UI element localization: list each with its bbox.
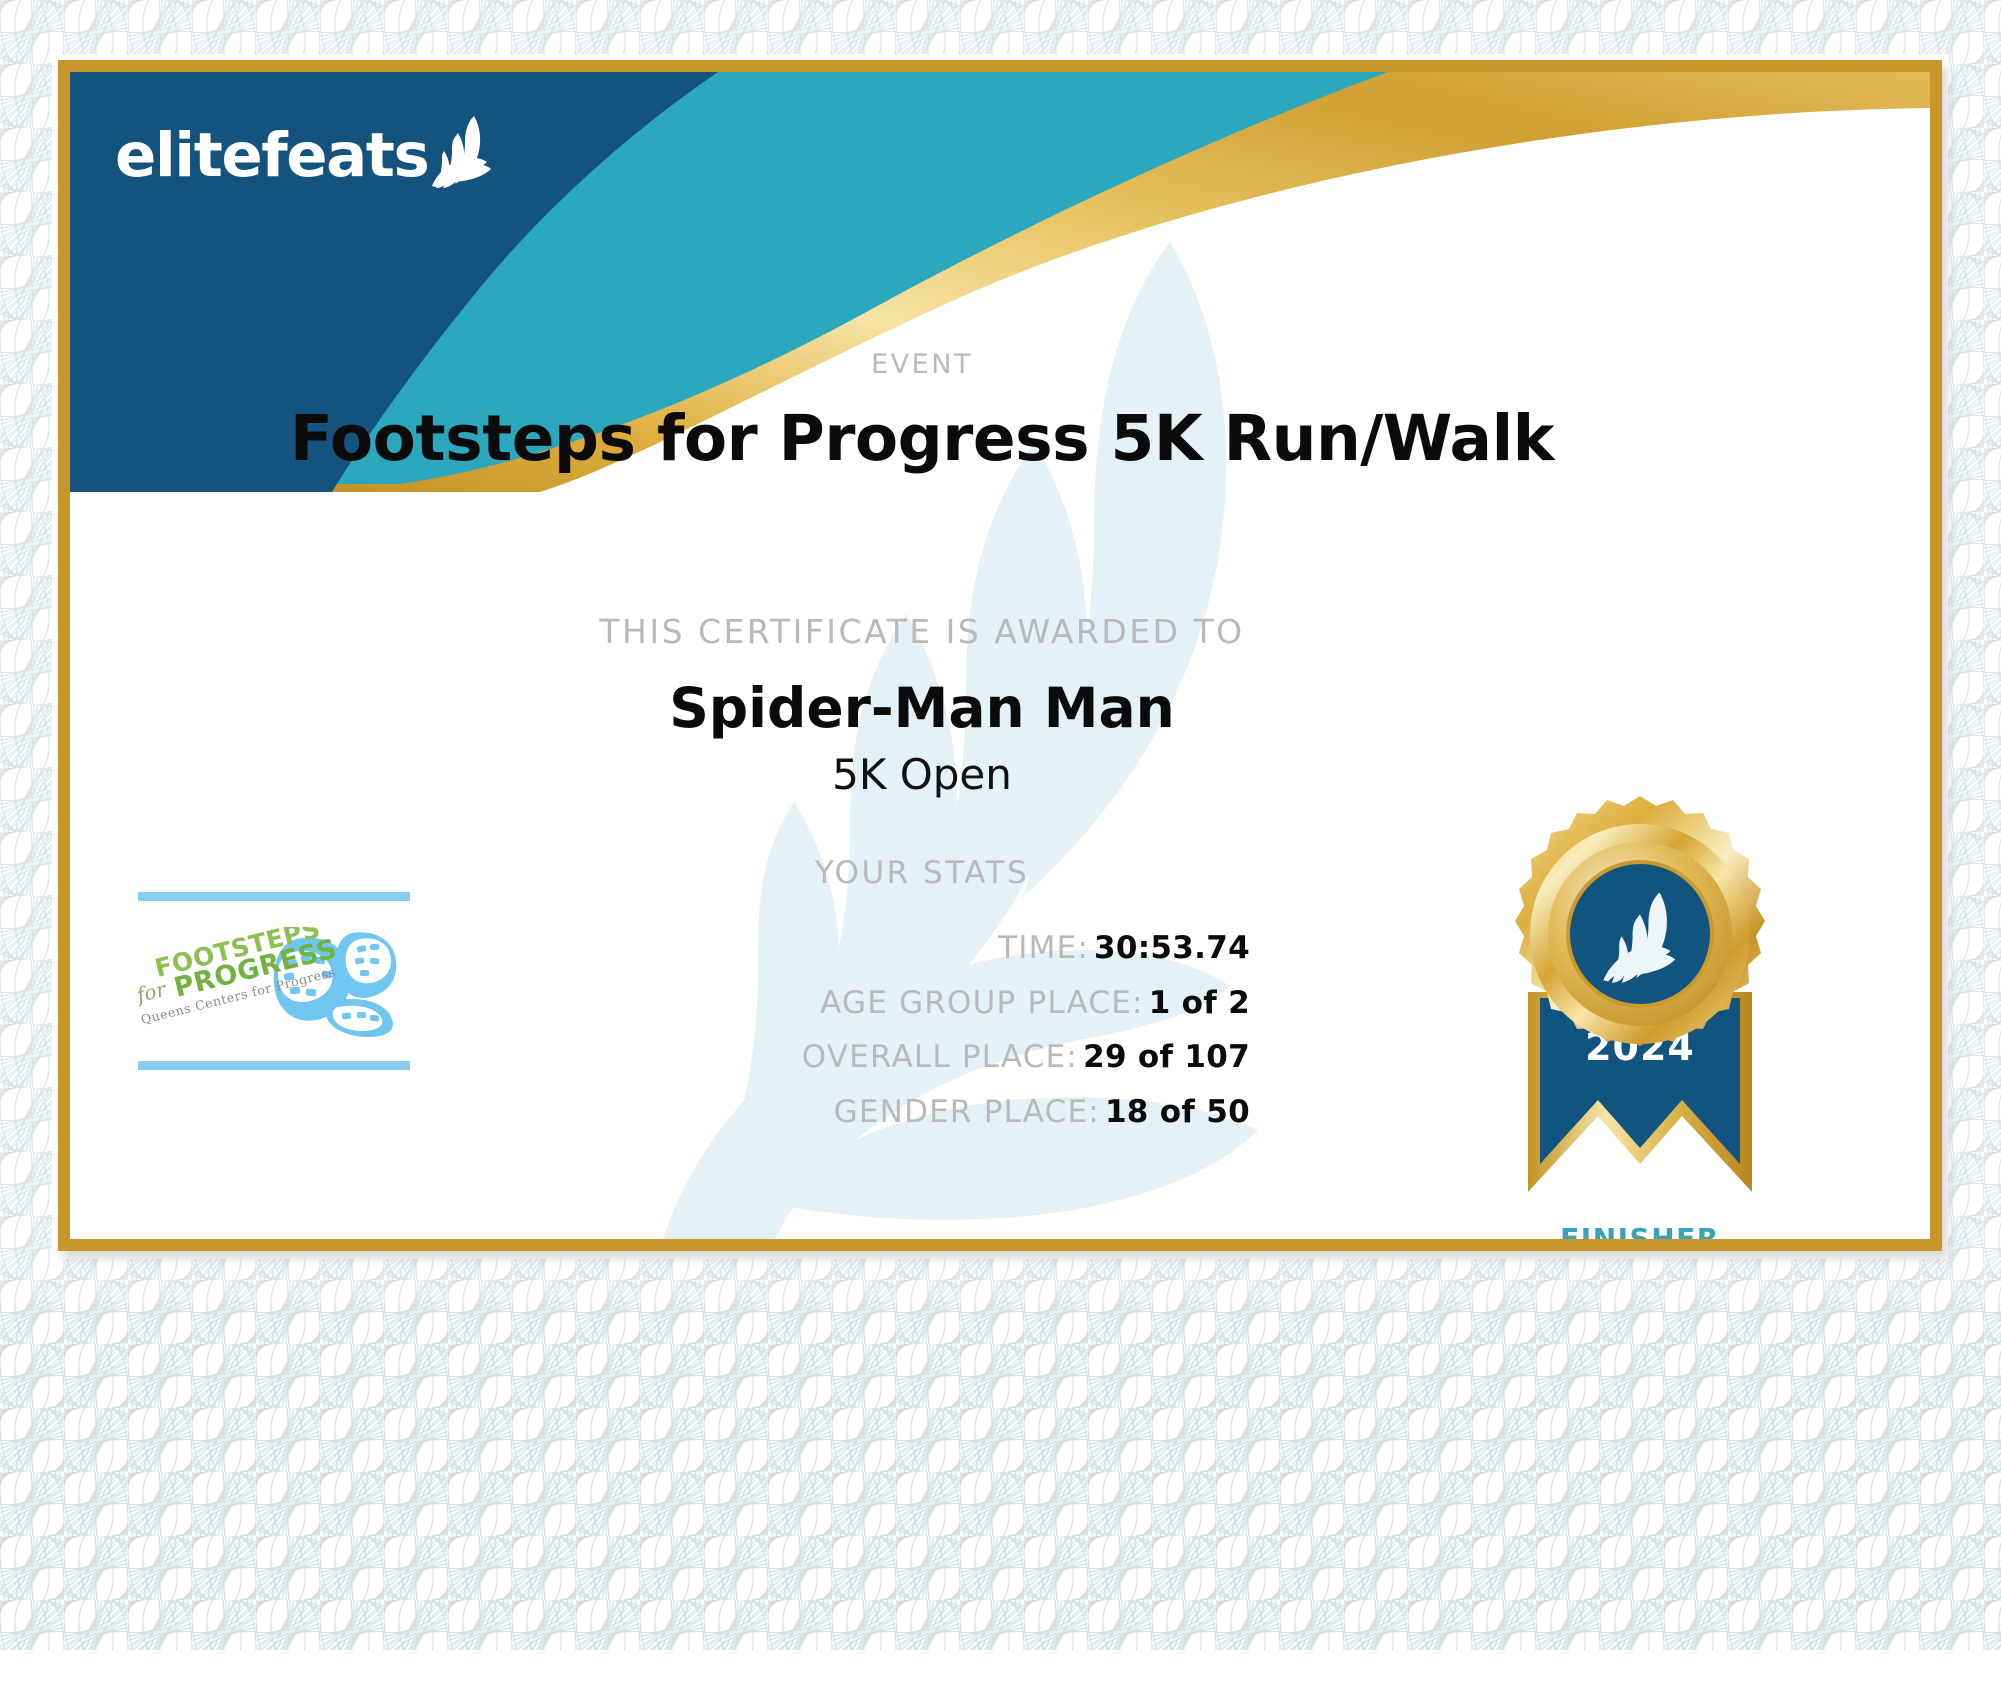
stat-value: 1 of 2 [1149,985,1250,1021]
stat-value: 30:53.74 [1094,930,1250,966]
recipient-name: Spider-Man Man [70,676,1852,740]
medal-rosette-icon: 2024 [1470,792,1810,1212]
brand-wordmark: elitefeats [115,125,428,186]
medal-caption: FINISHER CERTIFICATE [1470,1223,1810,1239]
partner-divider-top [138,892,410,901]
stat-row: OVERALL PLACE:29 of 107 [450,1041,1250,1074]
footprints-icon: FOOTSTEPS for PROGRESS Queens Centers fo… [138,927,410,1037]
event-title: Footsteps for Progress 5K Run/Walk [70,402,1852,475]
stat-value: 29 of 107 [1083,1039,1250,1075]
stat-row: GENDER PLACE:18 of 50 [450,1096,1250,1129]
stat-label: OVERALL PLACE: [802,1039,1078,1075]
stat-row: AGE GROUP PLACE:1 of 2 [450,987,1250,1020]
stat-label: TIME: [998,930,1089,966]
stat-label: GENDER PLACE: [834,1094,1100,1130]
medal-rosette-scallop [1515,796,1765,1046]
finisher-medal: 2024 [1470,792,1810,1239]
partner-logo-block: FOOTSTEPS for PROGRESS Queens Centers fo… [138,892,410,1070]
stats-list: TIME:30:53.74 AGE GROUP PLACE:1 of 2 OVE… [450,932,1250,1150]
winged-foot-icon [430,114,492,188]
partner-divider-bottom [138,1061,410,1070]
certificate-frame: elitefeats EVENT Footsteps for Progress … [58,60,1942,1251]
medal-caption-line1: FINISHER [1470,1223,1810,1239]
elitefeats-logo: elitefeats [115,122,492,188]
footsteps-for-progress-logo: FOOTSTEPS for PROGRESS Queens Centers fo… [138,927,410,1037]
stat-row: TIME:30:53.74 [450,932,1250,965]
event-label: EVENT [70,349,1852,380]
stat-value: 18 of 50 [1105,1094,1250,1130]
stat-label: AGE GROUP PLACE: [820,985,1144,1021]
certificate-page: elitefeats EVENT Footsteps for Progress … [0,0,2001,1700]
certificate-body: elitefeats EVENT Footsteps for Progress … [70,72,1930,1239]
awarded-to-label: THIS CERTIFICATE IS AWARDED TO [70,612,1852,651]
